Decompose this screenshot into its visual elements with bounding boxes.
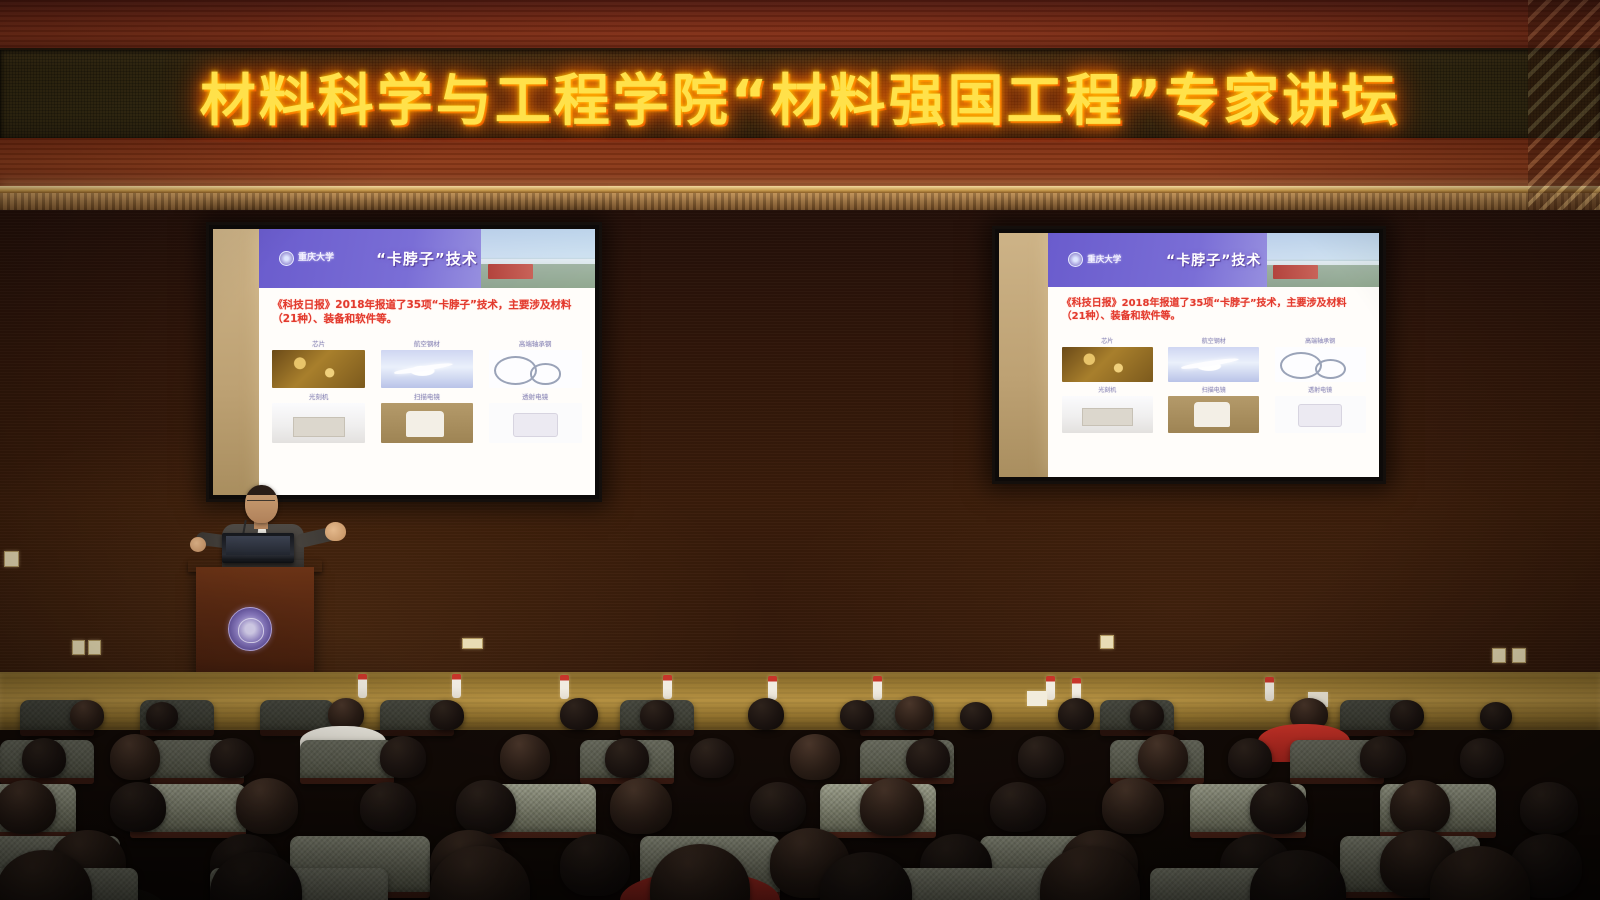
thumb-caption: 光刻机 [1098, 385, 1116, 394]
water-bottle [663, 675, 672, 699]
audience-head [1360, 736, 1406, 778]
desk-name-card [1027, 691, 1047, 706]
thumb-caption: 芯片 [312, 338, 325, 348]
list-item: 光刻机 [272, 391, 365, 443]
slide-header-right: 重庆大学 “卡脖子”技术 [1048, 233, 1379, 287]
slide-thumbnail-grid-right: 芯片 航空钢材 高端轴承钢 光刻机 [1062, 336, 1366, 430]
thumb-image-sem [1168, 396, 1259, 433]
audience-head [1228, 738, 1272, 778]
audience-head [748, 698, 784, 730]
audience-head [895, 696, 933, 730]
screen-surface-left: 重庆大学 “卡脖子”技术 《科技日报》2018年报道了35项“卡脖子”技术，主要… [213, 229, 595, 495]
audience-head [1250, 782, 1308, 834]
audience-head [210, 738, 254, 778]
lecture-hall-photo: 材料科学与工程学院“材料强国工程”专家讲坛 重庆大学 “卡脖子”技术 [0, 0, 1600, 900]
audience-head [990, 782, 1046, 832]
audience-head [960, 702, 992, 730]
audience-head [690, 738, 734, 778]
audience-head [0, 780, 56, 834]
list-item: 扫描电镜 [381, 391, 474, 443]
slide-header-left: 重庆大学 “卡脖子”技术 [259, 229, 595, 288]
wall-sign-plate [462, 638, 483, 649]
university-logo-right: 重庆大学 [1068, 252, 1121, 267]
thumb-caption: 扫描电镜 [414, 391, 440, 401]
audience-head [560, 834, 630, 896]
wall-outlet-plate [1512, 648, 1526, 663]
wall-outlet-plate [88, 640, 101, 655]
thumb-caption: 高端轴承钢 [1305, 336, 1335, 345]
thumb-image-chip [272, 350, 365, 388]
right-projection-screen: 重庆大学 “卡脖子”技术 《科技日报》2018年报道了35项“卡脖子”技术，主要… [992, 226, 1386, 484]
ceiling-wood-panel [0, 0, 1600, 50]
audience-head [860, 778, 924, 836]
wall-outlet-plate [4, 551, 19, 567]
thumb-image-bearing [489, 350, 582, 388]
banner-title-text: 材料科学与工程学院“材料强国工程”专家讲坛 [200, 56, 1401, 137]
audience-head [560, 698, 598, 730]
university-name-right: 重庆大学 [1087, 256, 1121, 265]
thumb-image-tem [489, 403, 582, 443]
university-name-left: 重庆大学 [298, 254, 334, 263]
audience-head [1460, 738, 1504, 778]
water-bottle [768, 676, 777, 700]
thumb-caption: 透射电镜 [522, 391, 548, 401]
list-item: 芯片 [272, 338, 365, 388]
slide-right: 重庆大学 “卡脖子”技术 《科技日报》2018年报道了35项“卡脖子”技术，主要… [1048, 233, 1379, 477]
audience-head [1018, 736, 1064, 778]
slide-body-right: 《科技日报》2018年报道了35项“卡脖子”技术，主要涉及材料（21种）、装备和… [1048, 287, 1379, 477]
list-item: 透射电镜 [1275, 385, 1366, 433]
list-item: 高端轴承钢 [1275, 336, 1366, 382]
slide-left: 重庆大学 “卡脖子”技术 《科技日报》2018年报道了35项“卡脖子”技术，主要… [259, 229, 595, 495]
thumb-image-lithography [272, 403, 365, 443]
audience-head [236, 778, 298, 834]
water-bottle [358, 674, 367, 698]
slide-header-photo [481, 229, 595, 288]
thumb-caption: 航空钢材 [1202, 336, 1226, 345]
list-item: 航空钢材 [1168, 336, 1259, 382]
thumb-image-chip [1062, 347, 1153, 382]
list-item: 扫描电镜 [1168, 385, 1259, 433]
speaker-right-hand [325, 522, 346, 541]
left-projection-screen: 重庆大学 “卡脖子”技术 《科技日报》2018年报道了35项“卡脖子”技术，主要… [206, 222, 602, 502]
wall-outlet-plate [1492, 648, 1506, 663]
water-bottle [1265, 677, 1274, 701]
water-bottle [452, 674, 461, 698]
screen-surface-right: 重庆大学 “卡脖子”技术 《科技日报》2018年报道了35项“卡脖子”技术，主要… [999, 233, 1379, 477]
university-logo-left: 重庆大学 [279, 251, 334, 266]
wall-outlet-plate [72, 640, 85, 655]
thumb-caption: 高端轴承钢 [519, 338, 552, 348]
audience-head [1390, 700, 1424, 730]
led-banner: 材料科学与工程学院“材料强国工程”专家讲坛 [0, 48, 1600, 145]
thumb-image-lithography [1062, 396, 1153, 433]
thumb-caption: 航空钢材 [414, 338, 440, 348]
university-seal-icon [1068, 252, 1083, 267]
thumb-image-plane [1168, 347, 1259, 382]
laptop-on-podium [222, 533, 294, 563]
audience-head [110, 734, 160, 780]
audience-head [430, 700, 464, 730]
thumb-caption: 透射电镜 [1308, 385, 1332, 394]
audience-head [750, 782, 806, 832]
slide-paragraph-left: 《科技日报》2018年报道了35项“卡脖子”技术，主要涉及材料（21种）、装备和… [272, 298, 581, 326]
thumb-image-bearing [1275, 347, 1366, 382]
slide-header-photo [1267, 233, 1379, 287]
audience-head [22, 738, 66, 778]
audience-head [790, 734, 840, 780]
thumb-caption: 光刻机 [309, 391, 329, 401]
soffit-light-strip [0, 186, 1600, 193]
audience-head [1390, 780, 1450, 834]
university-seal-icon [228, 607, 272, 651]
audience-head [146, 702, 178, 730]
thumb-caption: 芯片 [1101, 336, 1113, 345]
audience-head [1138, 734, 1188, 780]
audience-head [456, 780, 516, 834]
thumb-image-tem [1275, 396, 1366, 433]
audience-head [610, 778, 672, 834]
thumb-image-sem [381, 403, 474, 443]
audience-head [906, 738, 950, 778]
water-bottle [560, 675, 569, 699]
slide-thumbnail-grid-left: 芯片 航空钢材 高端轴承钢 光刻机 [272, 338, 581, 440]
audience-head [840, 700, 874, 730]
audience-head [1058, 698, 1094, 730]
audience-head [1130, 700, 1164, 730]
thumb-image-plane [381, 350, 474, 388]
audience-head [380, 736, 426, 778]
audience-head [605, 738, 649, 778]
audience-head [360, 782, 416, 832]
audience-head [1480, 702, 1512, 730]
list-item: 光刻机 [1062, 385, 1153, 433]
university-seal-icon [279, 251, 294, 266]
thumb-caption: 扫描电镜 [1202, 385, 1226, 394]
audience-head [1520, 782, 1578, 834]
list-item: 芯片 [1062, 336, 1153, 382]
audience-head [70, 700, 104, 730]
slide-body-left: 《科技日报》2018年报道了35项“卡脖子”技术，主要涉及材料（21种）、装备和… [259, 288, 595, 495]
water-bottle [1046, 676, 1055, 700]
audience-head [500, 734, 550, 780]
audience-head [1102, 778, 1164, 834]
audience-head [110, 782, 166, 832]
speaker-left-hand [190, 537, 206, 552]
list-item: 航空钢材 [381, 338, 474, 388]
glasses-icon [247, 500, 275, 507]
list-item: 高端轴承钢 [489, 338, 582, 388]
slide-paragraph-right: 《科技日报》2018年报道了35项“卡脖子”技术，主要涉及材料（21种）、装备和… [1062, 297, 1366, 324]
wall-outlet-plate [1100, 635, 1114, 649]
water-bottle [873, 676, 882, 700]
audience-area [0, 666, 1600, 900]
acoustic-fin-panel [1528, 0, 1600, 210]
audience-head [640, 700, 674, 730]
list-item: 透射电镜 [489, 391, 582, 443]
